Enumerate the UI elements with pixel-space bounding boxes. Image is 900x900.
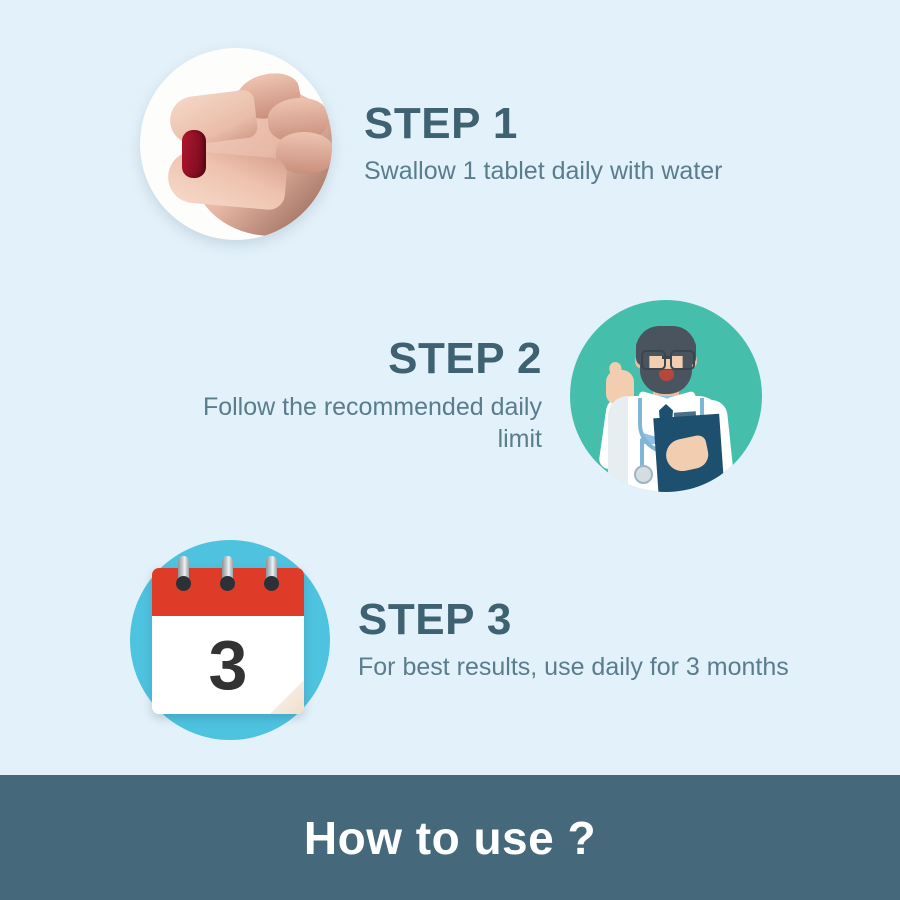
calendar-ring-2: [222, 556, 233, 590]
calendar-ring-3: [266, 556, 277, 590]
stethoscope-head: [634, 465, 653, 484]
doctor-coat-shading: [608, 396, 628, 492]
step-2-description: Follow the recommended daily limit: [168, 391, 542, 456]
step-3-row: 3 STEP 3 For best results, use daily for…: [130, 540, 789, 740]
doctor-figure: [570, 300, 762, 492]
step-1-title: STEP 1: [364, 101, 518, 147]
step-1-description: Swallow 1 tablet daily with water: [364, 155, 723, 188]
step-1-row: STEP 1 Swallow 1 tablet daily with water: [140, 48, 723, 240]
step-3-description: For best results, use daily for 3 months: [358, 651, 789, 684]
footer-banner: How to use ?: [0, 775, 900, 900]
footer-title: How to use ?: [304, 811, 596, 865]
calendar-ring-1: [178, 556, 189, 590]
red-capsule-pill: [182, 130, 206, 178]
step-2-row: STEP 2 Follow the recommended daily limi…: [168, 300, 762, 492]
step-3-text-block: STEP 3 For best results, use daily for 3…: [358, 597, 789, 684]
step-2-text-block: STEP 2 Follow the recommended daily limi…: [168, 336, 542, 455]
doctor-thumbs-up-illustration: [570, 300, 762, 492]
step-2-title: STEP 2: [388, 336, 542, 382]
calendar-day-number: 3: [152, 616, 304, 714]
hand-illustration: [164, 58, 332, 238]
step-1-text-block: STEP 1 Swallow 1 tablet daily with water: [364, 101, 723, 188]
glasses-lens-right: [670, 350, 695, 370]
calendar-icon: 3: [130, 540, 330, 740]
step-3-title: STEP 3: [358, 597, 512, 643]
glasses-bridge: [662, 356, 670, 359]
hand-holding-pill-photo: [140, 48, 332, 240]
how-to-use-infographic: STEP 1 Swallow 1 tablet daily with water…: [0, 0, 900, 900]
glasses-lens-left: [641, 350, 666, 370]
